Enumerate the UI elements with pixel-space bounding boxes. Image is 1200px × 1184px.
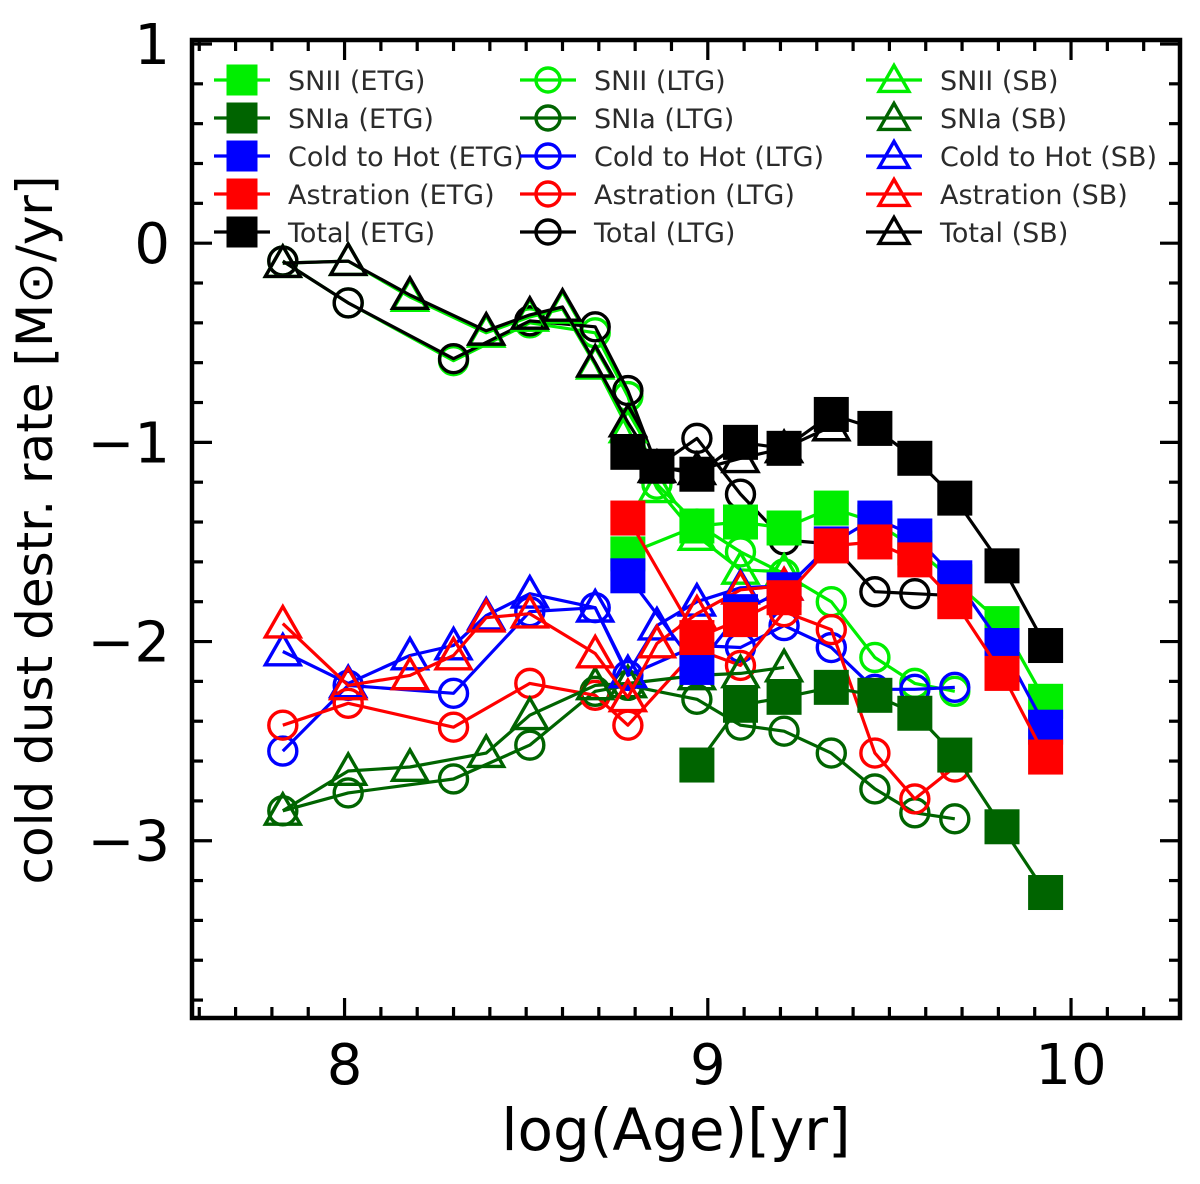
y-tick-label: −3 (87, 810, 170, 875)
legend-label: Astration (ETG) (288, 180, 495, 211)
chart-legend: SNII (ETG)SNIa (ETG)Cold to Hot (ETG)Ast… (214, 65, 1157, 249)
legend-label: SNIa (ETG) (288, 104, 434, 135)
x-axis-label: log(Age)[yr] (501, 1096, 850, 1164)
x-tick-label: 8 (327, 1033, 363, 1098)
legend-label: SNIa (LTG) (594, 104, 734, 135)
legend-item-astration-etg[interactable]: Astration (ETG) (214, 179, 495, 211)
legend-label: Total (SB) (939, 218, 1068, 249)
legend-label: Total (ETG) (287, 218, 435, 249)
legend-item-total-etg[interactable]: Total (ETG) (214, 217, 435, 249)
legend-label: SNII (LTG) (594, 66, 726, 97)
x-tick-label: 10 (1035, 1033, 1106, 1098)
legend-label: Cold to Hot (SB) (940, 142, 1157, 173)
cold-dust-destruction-rate-chart: 891010−1−2−3 SNII (ETG)SNIa (ETG)Cold to… (0, 0, 1200, 1184)
legend-label: Total (LTG) (593, 218, 735, 249)
legend-label: SNII (ETG) (288, 66, 425, 97)
chart-page: 891010−1−2−3 SNII (ETG)SNIa (ETG)Cold to… (0, 0, 1200, 1184)
legend-label: SNII (SB) (940, 66, 1059, 97)
legend-item-snia-etg[interactable]: SNIa (ETG) (214, 103, 434, 135)
legend-item-snii-etg[interactable]: SNII (ETG) (214, 65, 425, 97)
legend-item-total-sb[interactable]: Total (SB) (866, 217, 1068, 249)
legend-label: Astration (SB) (940, 180, 1128, 211)
legend-label: Cold to Hot (ETG) (288, 142, 524, 173)
y-axis-label: cold dust destr. rate [M⊙/yr] (6, 176, 64, 885)
y-tick-label: 0 (134, 212, 170, 277)
legend-item-snii-sb[interactable]: SNII (SB) (866, 65, 1059, 97)
y-tick-label: 1 (134, 13, 170, 78)
legend-item-snia-sb[interactable]: SNIa (SB) (866, 103, 1067, 135)
x-tick-label: 9 (690, 1033, 726, 1098)
legend-label: SNIa (SB) (940, 104, 1067, 135)
legend-label: Cold to Hot (LTG) (594, 142, 824, 173)
y-tick-label: −2 (87, 611, 170, 676)
y-tick-label: −1 (87, 411, 170, 476)
legend-label: Astration (LTG) (594, 180, 795, 211)
chart-background (0, 0, 1200, 1184)
